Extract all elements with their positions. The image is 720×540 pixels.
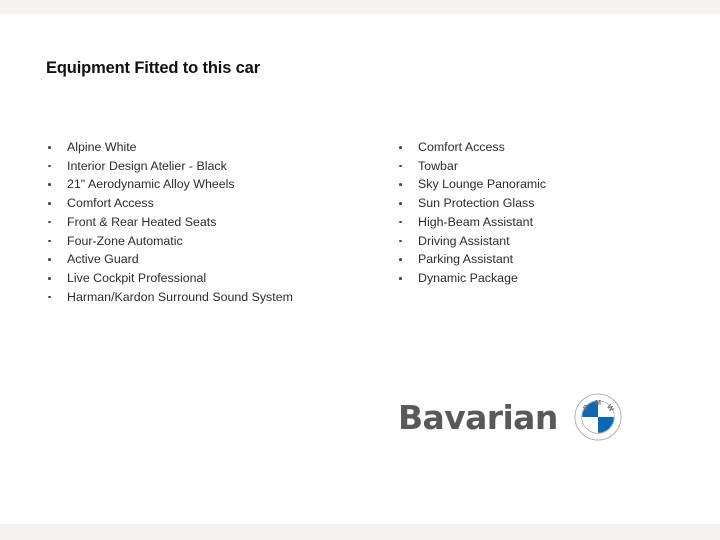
- equipment-list-item: Driving Assistant: [399, 232, 699, 251]
- equipment-item-label: Comfort Access: [67, 196, 154, 210]
- equipment-item-label: Live Cockpit Professional: [67, 271, 206, 285]
- bullet-icon: [48, 258, 51, 261]
- equipment-list-item: Alpine White: [48, 138, 378, 157]
- equipment-item-label: Dynamic Package: [418, 271, 518, 285]
- bullet-icon: [48, 165, 51, 168]
- bullet-icon: [399, 165, 402, 168]
- brand-lockup: Bavarian B M W: [398, 393, 622, 441]
- bullet-icon: [48, 296, 51, 299]
- equipment-column-right: Comfort AccessTowbarSky Lounge Panoramic…: [399, 138, 699, 288]
- equipment-item-label: Interior Design Atelier - Black: [67, 159, 227, 173]
- bullet-icon: [399, 258, 402, 261]
- top-edge-band: [0, 0, 720, 14]
- bullet-icon: [399, 277, 402, 280]
- equipment-item-label: Driving Assistant: [418, 234, 510, 248]
- bottom-edge-band: [0, 524, 720, 540]
- bullet-icon: [399, 183, 402, 186]
- equipment-list-item: Comfort Access: [48, 194, 378, 213]
- equipment-list-item: Harman/Kardon Surround Sound System: [48, 288, 378, 307]
- bullet-icon: [48, 202, 51, 205]
- equipment-list-item: Interior Design Atelier - Black: [48, 157, 378, 176]
- slide-content: Equipment Fitted to this car Alpine Whit…: [0, 14, 720, 524]
- equipment-item-label: 21" Aerodynamic Alloy Wheels: [67, 177, 235, 191]
- equipment-list-item: Comfort Access: [399, 138, 699, 157]
- bullet-icon: [399, 221, 402, 224]
- page-title: Equipment Fitted to this car: [46, 59, 260, 78]
- equipment-item-label: Parking Assistant: [418, 252, 513, 266]
- equipment-item-label: Harman/Kardon Surround Sound System: [67, 290, 293, 304]
- equipment-list-right: Comfort AccessTowbarSky Lounge Panoramic…: [399, 138, 699, 288]
- slide-page: Equipment Fitted to this car Alpine Whit…: [0, 0, 720, 540]
- equipment-list-item: 21" Aerodynamic Alloy Wheels: [48, 175, 378, 194]
- bullet-icon: [48, 240, 51, 243]
- bullet-icon: [399, 240, 402, 243]
- equipment-item-label: Active Guard: [67, 252, 139, 266]
- equipment-item-label: Sky Lounge Panoramic: [418, 177, 546, 191]
- equipment-list-item: Active Guard: [48, 250, 378, 269]
- equipment-column-left: Alpine WhiteInterior Design Atelier - Bl…: [48, 138, 378, 306]
- bmw-roundel-icon: B M W: [574, 393, 622, 441]
- bullet-icon: [48, 146, 51, 149]
- equipment-item-label: Sun Protection Glass: [418, 196, 534, 210]
- equipment-list-item: Dynamic Package: [399, 269, 699, 288]
- equipment-list-item: Front & Rear Heated Seats: [48, 213, 378, 232]
- equipment-item-label: Four-Zone Automatic: [67, 234, 183, 248]
- equipment-list-item: Live Cockpit Professional: [48, 269, 378, 288]
- equipment-item-label: Alpine White: [67, 140, 137, 154]
- bullet-icon: [399, 202, 402, 205]
- equipment-list-item: Sun Protection Glass: [399, 194, 699, 213]
- equipment-item-label: Towbar: [418, 159, 458, 173]
- equipment-list-item: High-Beam Assistant: [399, 213, 699, 232]
- equipment-item-label: Comfort Access: [418, 140, 505, 154]
- brand-wordmark: Bavarian: [398, 401, 558, 434]
- equipment-list-item: Four-Zone Automatic: [48, 232, 378, 251]
- equipment-item-label: Front & Rear Heated Seats: [67, 215, 216, 229]
- equipment-list-item: Parking Assistant: [399, 250, 699, 269]
- roundel-letter-m-icon: M: [595, 398, 601, 407]
- bullet-icon: [48, 277, 51, 280]
- equipment-list-item: Sky Lounge Panoramic: [399, 175, 699, 194]
- bullet-icon: [399, 146, 402, 149]
- equipment-list-left: Alpine WhiteInterior Design Atelier - Bl…: [48, 138, 378, 306]
- bullet-icon: [48, 183, 51, 186]
- equipment-list-item: Towbar: [399, 157, 699, 176]
- bullet-icon: [48, 221, 51, 224]
- equipment-item-label: High-Beam Assistant: [418, 215, 533, 229]
